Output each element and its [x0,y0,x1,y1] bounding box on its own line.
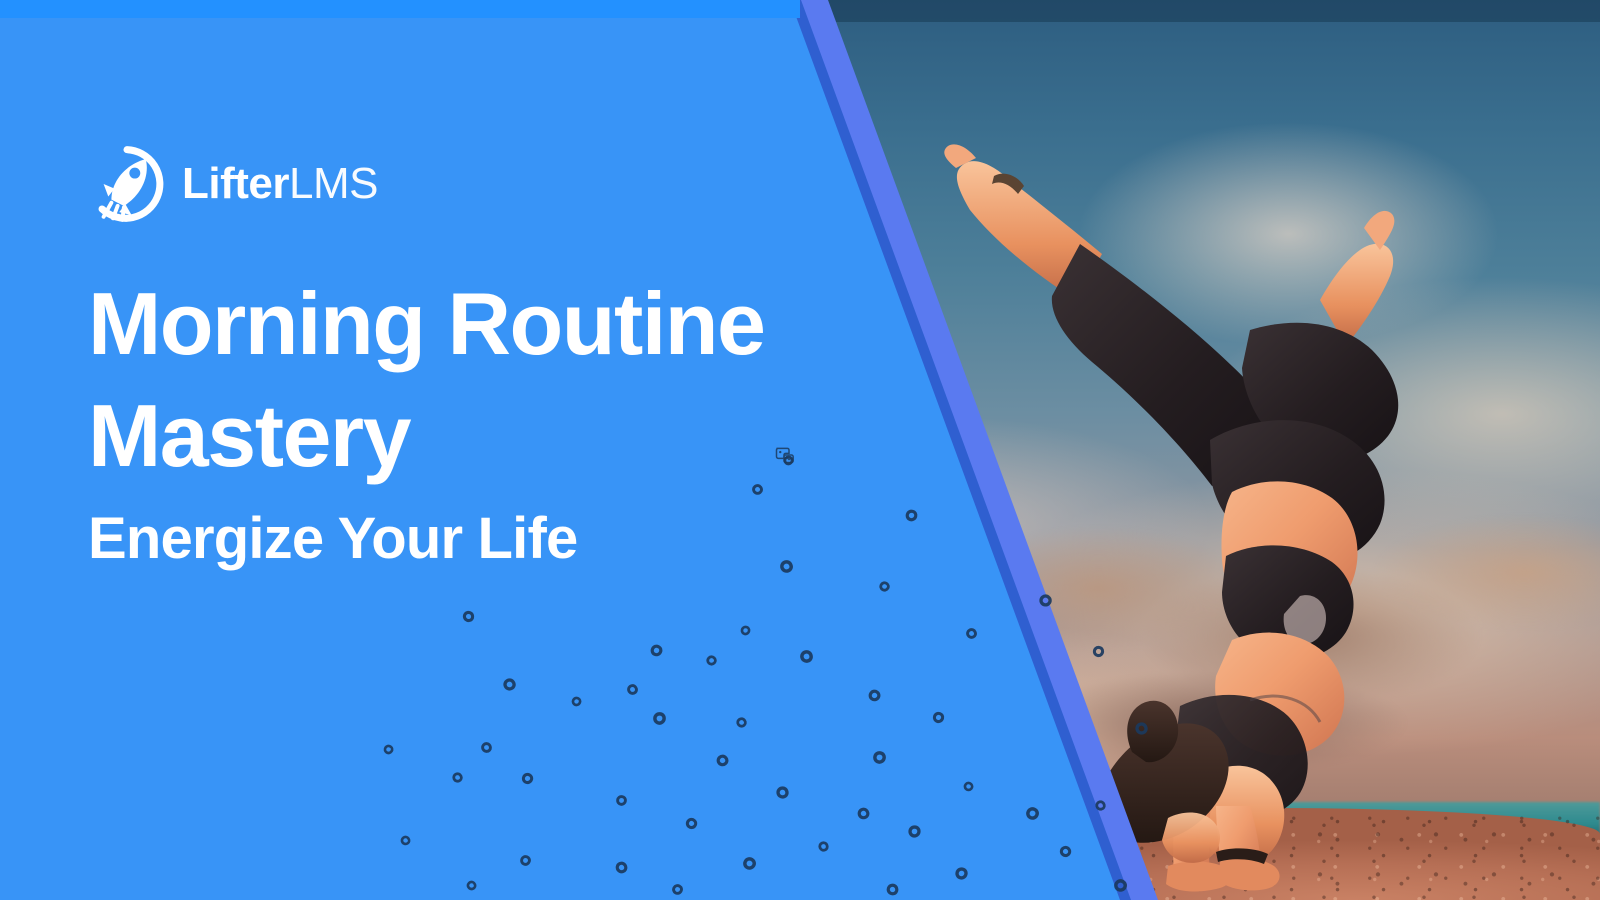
rocket-in-circle-icon [88,145,166,223]
hero-headline: Morning Routine Mastery [88,268,868,492]
photo-top-shade [780,0,1600,22]
hero-headline-line2: Mastery [88,380,868,492]
hero-content: LifterLMS Morning Routine Mastery Energi… [88,0,848,900]
brand-name: LifterLMS [182,162,378,206]
hero-subheadline: Energize Your Life [88,506,577,572]
brand-name-bold: Lifter [182,159,289,208]
hero-banner: LifterLMS Morning Routine Mastery Energi… [0,0,1600,900]
brand-logo[interactable]: LifterLMS [88,145,378,223]
broken-image-icon [774,445,794,465]
hero-headline-line1: Morning Routine [88,268,868,380]
brand-name-light: LMS [289,159,378,208]
